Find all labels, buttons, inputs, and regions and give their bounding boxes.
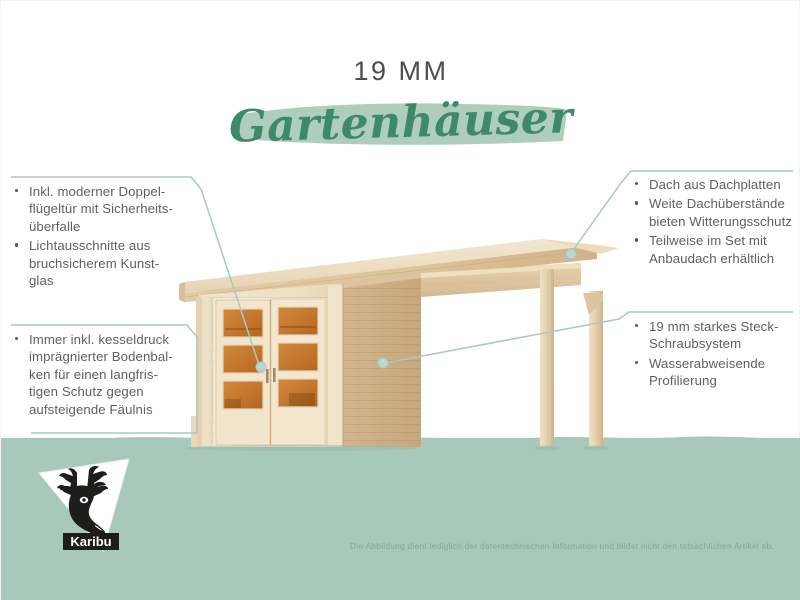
bullet-dot-icon bbox=[15, 331, 29, 418]
bullet-dot-icon bbox=[635, 195, 649, 230]
list-item: 19 mm starkes Steck- Schraubsystem bbox=[635, 318, 800, 353]
annotation-dot-door bbox=[256, 362, 266, 372]
bullet-dot-icon bbox=[635, 176, 649, 193]
headline-script-wrap: Gartenhäuser bbox=[1, 97, 800, 149]
bullet-text: Inkl. moderner Doppel- flügeltür mit Sic… bbox=[29, 183, 190, 235]
headline-script: Gartenhäuser bbox=[228, 92, 573, 154]
bullet-list: Immer inkl. kesseldruck imprägnierter Bo… bbox=[15, 331, 193, 418]
annotation-dot-roof bbox=[566, 249, 576, 259]
bullet-list: Dach aus Dachplatten Weite Dachüberständ… bbox=[635, 176, 800, 267]
list-item: Dach aus Dachplatten bbox=[635, 176, 800, 193]
list-item: Inkl. moderner Doppel- flügeltür mit Sic… bbox=[15, 183, 190, 235]
annotation-dot-wall bbox=[378, 358, 388, 368]
bullet-text: Lichtausschnitte aus bruchsicherem Kunst… bbox=[29, 237, 190, 289]
bullet-list: 19 mm starkes Steck- Schraubsystem Wasse… bbox=[635, 318, 800, 390]
bullet-dot-icon bbox=[635, 232, 649, 267]
bullet-text: Wasserabweisende Profilierung bbox=[649, 355, 800, 390]
bullet-dot-icon bbox=[635, 355, 649, 390]
bullet-dot-icon bbox=[15, 237, 29, 289]
bullet-list: Inkl. moderner Doppel- flügeltür mit Sic… bbox=[15, 183, 190, 289]
bullet-text: 19 mm starkes Steck- Schraubsystem bbox=[649, 318, 800, 353]
list-item: Immer inkl. kesseldruck imprägnierter Bo… bbox=[15, 331, 193, 418]
bullet-text: Immer inkl. kesseldruck imprägnierter Bo… bbox=[29, 331, 193, 418]
logo-brand-text: Karibu bbox=[70, 534, 111, 549]
bullet-block-bottom-right: 19 mm starkes Steck- Schraubsystem Wasse… bbox=[635, 318, 800, 392]
bullet-block-top-left: Inkl. moderner Doppel- flügeltür mit Sic… bbox=[15, 183, 190, 291]
list-item: Wasserabweisende Profilierung bbox=[635, 355, 800, 390]
disclaimer-note: Die Abbildung dient lediglich der datent… bbox=[331, 541, 793, 552]
bullet-text: Dach aus Dachplatten bbox=[649, 176, 800, 193]
headline-kicker: 19 MM bbox=[1, 56, 800, 87]
list-item: Weite Dachüberstände bieten Witterungssc… bbox=[635, 195, 800, 230]
bullet-text: Teilweise im Set mit Anbaudach erhältlic… bbox=[649, 232, 800, 267]
ground-brush-edge bbox=[1, 431, 800, 443]
bullet-block-bottom-left: Immer inkl. kesseldruck imprägnierter Bo… bbox=[15, 331, 193, 420]
product-infographic: 19 MM Gartenhäuser Inkl. moderner Doppel… bbox=[0, 0, 800, 600]
bullet-block-top-right: Dach aus Dachplatten Weite Dachüberständ… bbox=[635, 176, 800, 269]
bullet-text: Weite Dachüberstände bieten Witterungssc… bbox=[649, 195, 800, 230]
bullet-dot-icon bbox=[15, 183, 29, 235]
list-item: Teilweise im Set mit Anbaudach erhältlic… bbox=[635, 232, 800, 267]
list-item: Lichtausschnitte aus bruchsicherem Kunst… bbox=[15, 237, 190, 289]
bullet-dot-icon bbox=[635, 318, 649, 353]
karibu-logo: Karibu bbox=[37, 457, 147, 557]
